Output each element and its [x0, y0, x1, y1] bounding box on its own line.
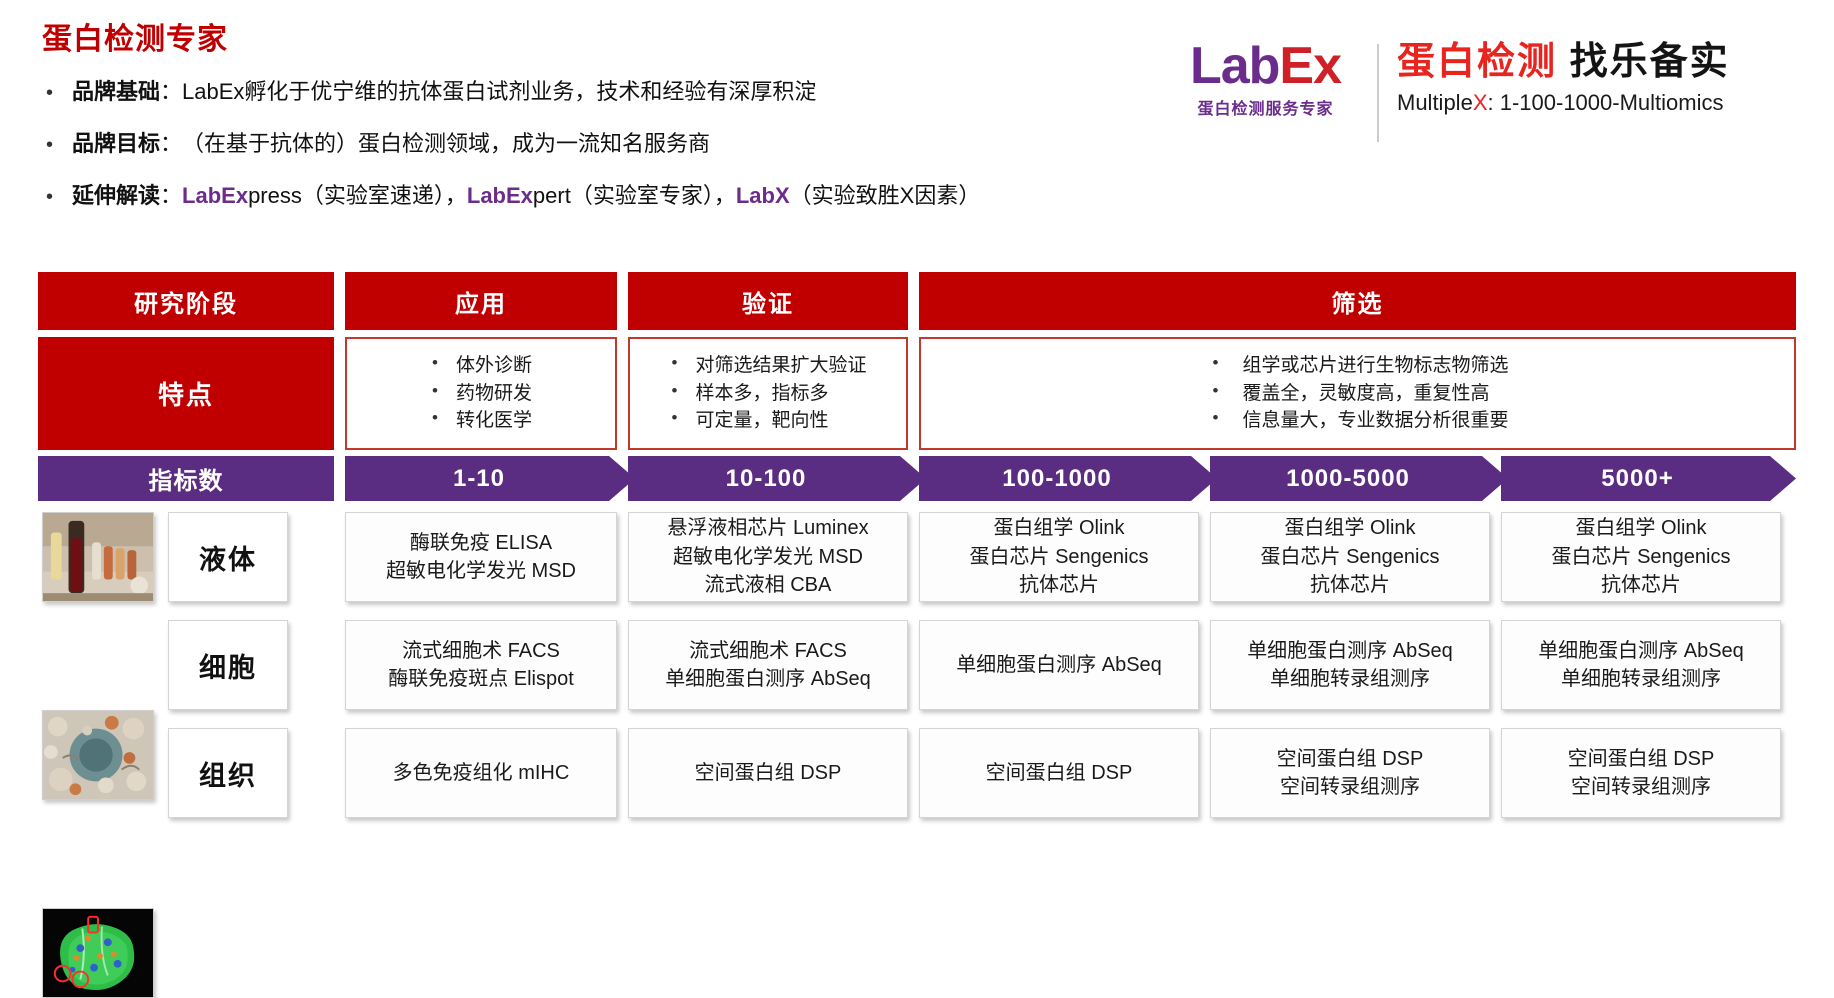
feature-item: 对筛选结果扩大验证: [669, 352, 866, 380]
matrix-cell-line: 蛋白芯片 Sengenics: [1552, 543, 1731, 571]
matrix-cell-lines: 空间蛋白组 DSP 空间转录组测序: [1277, 745, 1424, 802]
feature-list: 组学或芯片进行生物标志物筛选 覆盖全，灵敏度高，重复性高 信息量大，专业数据分析…: [1206, 352, 1508, 435]
matrix-cell-lines: 单细胞蛋白测序 AbSeq 单细胞转录组测序: [1538, 637, 1744, 694]
feature-item: 药物研发: [430, 380, 532, 408]
header-cell-application: 应用: [345, 272, 617, 330]
matrix-cell[interactable]: 空间蛋白组 DSP 空间转录组测序: [1210, 728, 1490, 818]
matrix-cell[interactable]: 蛋白组学 Olink 蛋白芯片 Sengenics 抗体芯片: [919, 512, 1199, 602]
matrix-cell-line: 空间转录组测序: [1277, 773, 1424, 801]
matrix-cell-line: 流式液相 CBA: [667, 571, 868, 599]
index-chevron-1-10[interactable]: 1-10: [345, 456, 635, 501]
matrix-cell-line: 悬浮液相芯片 Luminex: [667, 514, 868, 542]
feature-item: 可定量，靶向性: [669, 407, 866, 435]
index-chevron-5000-plus[interactable]: 5000+: [1501, 456, 1796, 501]
matrix-cell[interactable]: 蛋白组学 Olink 蛋白芯片 Sengenics 抗体芯片: [1210, 512, 1490, 602]
matrix-cell-line: 单细胞蛋白测序 AbSeq: [956, 651, 1162, 679]
feature-cell-validation: 对筛选结果扩大验证 样本多，指标多 可定量，靶向性: [628, 337, 908, 450]
header-cell-screening: 筛选: [919, 272, 1796, 330]
thumbnail-tissue-sample: [42, 908, 154, 998]
matrix-cell-line: 单细胞转录组测序: [1538, 665, 1744, 693]
matrix-cell-line: 单细胞蛋白测序 AbSeq: [1538, 637, 1744, 665]
matrix-cell-lines: 空间蛋白组 DSP: [695, 759, 842, 787]
matrix-cell-line: 抗体芯片: [970, 571, 1149, 599]
feature-row-label: 特点: [38, 337, 334, 450]
matrix-cell-lines: 蛋白组学 Olink 蛋白芯片 Sengenics 抗体芯片: [970, 514, 1149, 599]
matrix-cell[interactable]: 单细胞蛋白测序 AbSeq 单细胞转录组测序: [1501, 620, 1781, 710]
matrix-cell-line: 空间蛋白组 DSP: [695, 759, 842, 787]
matrix-cell-line: 空间蛋白组 DSP: [1568, 745, 1715, 773]
matrix-cell[interactable]: 蛋白组学 Olink 蛋白芯片 Sengenics 抗体芯片: [1501, 512, 1781, 602]
matrix-cell[interactable]: 酶联免疫 ELISA 超敏电化学发光 MSD: [345, 512, 617, 602]
matrix-cell-lines: 多色免疫组化 mIHC: [393, 759, 570, 787]
feature-item: 转化医学: [430, 407, 532, 435]
row-label-tissue: 组织: [168, 728, 288, 818]
matrix-cell-line: 流式细胞术 FACS: [388, 637, 574, 665]
matrix-cell-line: 蛋白组学 Olink: [970, 514, 1149, 542]
index-row-label: 指标数: [38, 456, 334, 501]
matrix-cell-line: 抗体芯片: [1261, 571, 1440, 599]
matrix-cell-line: 单细胞转录组测序: [1247, 665, 1453, 693]
row-label-liquid: 液体: [168, 512, 288, 602]
index-chevron-10-100[interactable]: 10-100: [628, 456, 926, 501]
matrix-cell-line: 蛋白组学 Olink: [1261, 514, 1440, 542]
matrix-cell[interactable]: 空间蛋白组 DSP: [919, 728, 1199, 818]
matrix-cell-lines: 单细胞蛋白测序 AbSeq: [956, 651, 1162, 679]
matrix-cell-lines: 蛋白组学 Olink 蛋白芯片 Sengenics 抗体芯片: [1261, 514, 1440, 599]
matrix-cell-lines: 流式细胞术 FACS 酶联免疫斑点 Elispot: [388, 637, 574, 694]
index-chevron-1000-5000[interactable]: 1000-5000: [1210, 456, 1508, 501]
feature-item: 组学或芯片进行生物标志物筛选: [1206, 352, 1508, 380]
feature-item: 样本多，指标多: [669, 380, 866, 408]
matrix-cell[interactable]: 单细胞蛋白测序 AbSeq 单细胞转录组测序: [1210, 620, 1490, 710]
matrix-cell-line: 单细胞蛋白测序 AbSeq: [665, 665, 871, 693]
comparison-matrix: 研究阶段 应用 验证 筛选 特点 体外诊断 药物研发 转化医学 对筛选结果扩大验…: [0, 0, 1834, 846]
header-cell-validation: 验证: [628, 272, 908, 330]
matrix-cell-line: 空间蛋白组 DSP: [986, 759, 1133, 787]
matrix-cell-line: 抗体芯片: [1552, 571, 1731, 599]
feature-cell-application: 体外诊断 药物研发 转化医学: [345, 337, 617, 450]
feature-list: 对筛选结果扩大验证 样本多，指标多 可定量，靶向性: [669, 352, 866, 435]
matrix-cell[interactable]: 流式细胞术 FACS 酶联免疫斑点 Elispot: [345, 620, 617, 710]
matrix-cell[interactable]: 多色免疫组化 mIHC: [345, 728, 617, 818]
matrix-cell-line: 超敏电化学发光 MSD: [386, 557, 576, 585]
feature-item: 覆盖全，灵敏度高，重复性高: [1206, 380, 1508, 408]
matrix-cell-line: 空间蛋白组 DSP: [1277, 745, 1424, 773]
index-chevron-100-1000[interactable]: 100-1000: [919, 456, 1217, 501]
matrix-cell-lines: 酶联免疫 ELISA 超敏电化学发光 MSD: [386, 529, 576, 586]
matrix-cell-line: 空间转录组测序: [1568, 773, 1715, 801]
feature-item: 信息量大，专业数据分析很重要: [1206, 407, 1508, 435]
matrix-cell-line: 蛋白组学 Olink: [1552, 514, 1731, 542]
row-label-cell: 细胞: [168, 620, 288, 710]
matrix-cell-lines: 蛋白组学 Olink 蛋白芯片 Sengenics 抗体芯片: [1552, 514, 1731, 599]
matrix-cell-line: 超敏电化学发光 MSD: [667, 543, 868, 571]
matrix-cell-line: 单细胞蛋白测序 AbSeq: [1247, 637, 1453, 665]
matrix-cell-lines: 空间蛋白组 DSP 空间转录组测序: [1568, 745, 1715, 802]
thumbnail-cell-sample: [42, 710, 154, 800]
matrix-cell[interactable]: 空间蛋白组 DSP: [628, 728, 908, 818]
matrix-cell-line: 蛋白芯片 Sengenics: [970, 543, 1149, 571]
feature-cell-screening: 组学或芯片进行生物标志物筛选 覆盖全，灵敏度高，重复性高 信息量大，专业数据分析…: [919, 337, 1796, 450]
matrix-cell[interactable]: 流式细胞术 FACS 单细胞蛋白测序 AbSeq: [628, 620, 908, 710]
matrix-cell-line: 多色免疫组化 mIHC: [393, 759, 570, 787]
matrix-cell-lines: 空间蛋白组 DSP: [986, 759, 1133, 787]
matrix-cell[interactable]: 悬浮液相芯片 Luminex 超敏电化学发光 MSD 流式液相 CBA: [628, 512, 908, 602]
matrix-cell-line: 流式细胞术 FACS: [665, 637, 871, 665]
matrix-cell[interactable]: 空间蛋白组 DSP 空间转录组测序: [1501, 728, 1781, 818]
header-cell-research-stage: 研究阶段: [38, 272, 334, 330]
matrix-cell[interactable]: 单细胞蛋白测序 AbSeq: [919, 620, 1199, 710]
matrix-cell-lines: 流式细胞术 FACS 单细胞蛋白测序 AbSeq: [665, 637, 871, 694]
matrix-cell-lines: 单细胞蛋白测序 AbSeq 单细胞转录组测序: [1247, 637, 1453, 694]
matrix-cell-line: 酶联免疫 ELISA: [386, 529, 576, 557]
thumbnail-liquid-sample: [42, 512, 154, 602]
feature-list: 体外诊断 药物研发 转化医学: [430, 352, 532, 435]
matrix-cell-lines: 悬浮液相芯片 Luminex 超敏电化学发光 MSD 流式液相 CBA: [667, 514, 868, 599]
matrix-cell-line: 蛋白芯片 Sengenics: [1261, 543, 1440, 571]
feature-item: 体外诊断: [430, 352, 532, 380]
matrix-cell-line: 酶联免疫斑点 Elispot: [388, 665, 574, 693]
